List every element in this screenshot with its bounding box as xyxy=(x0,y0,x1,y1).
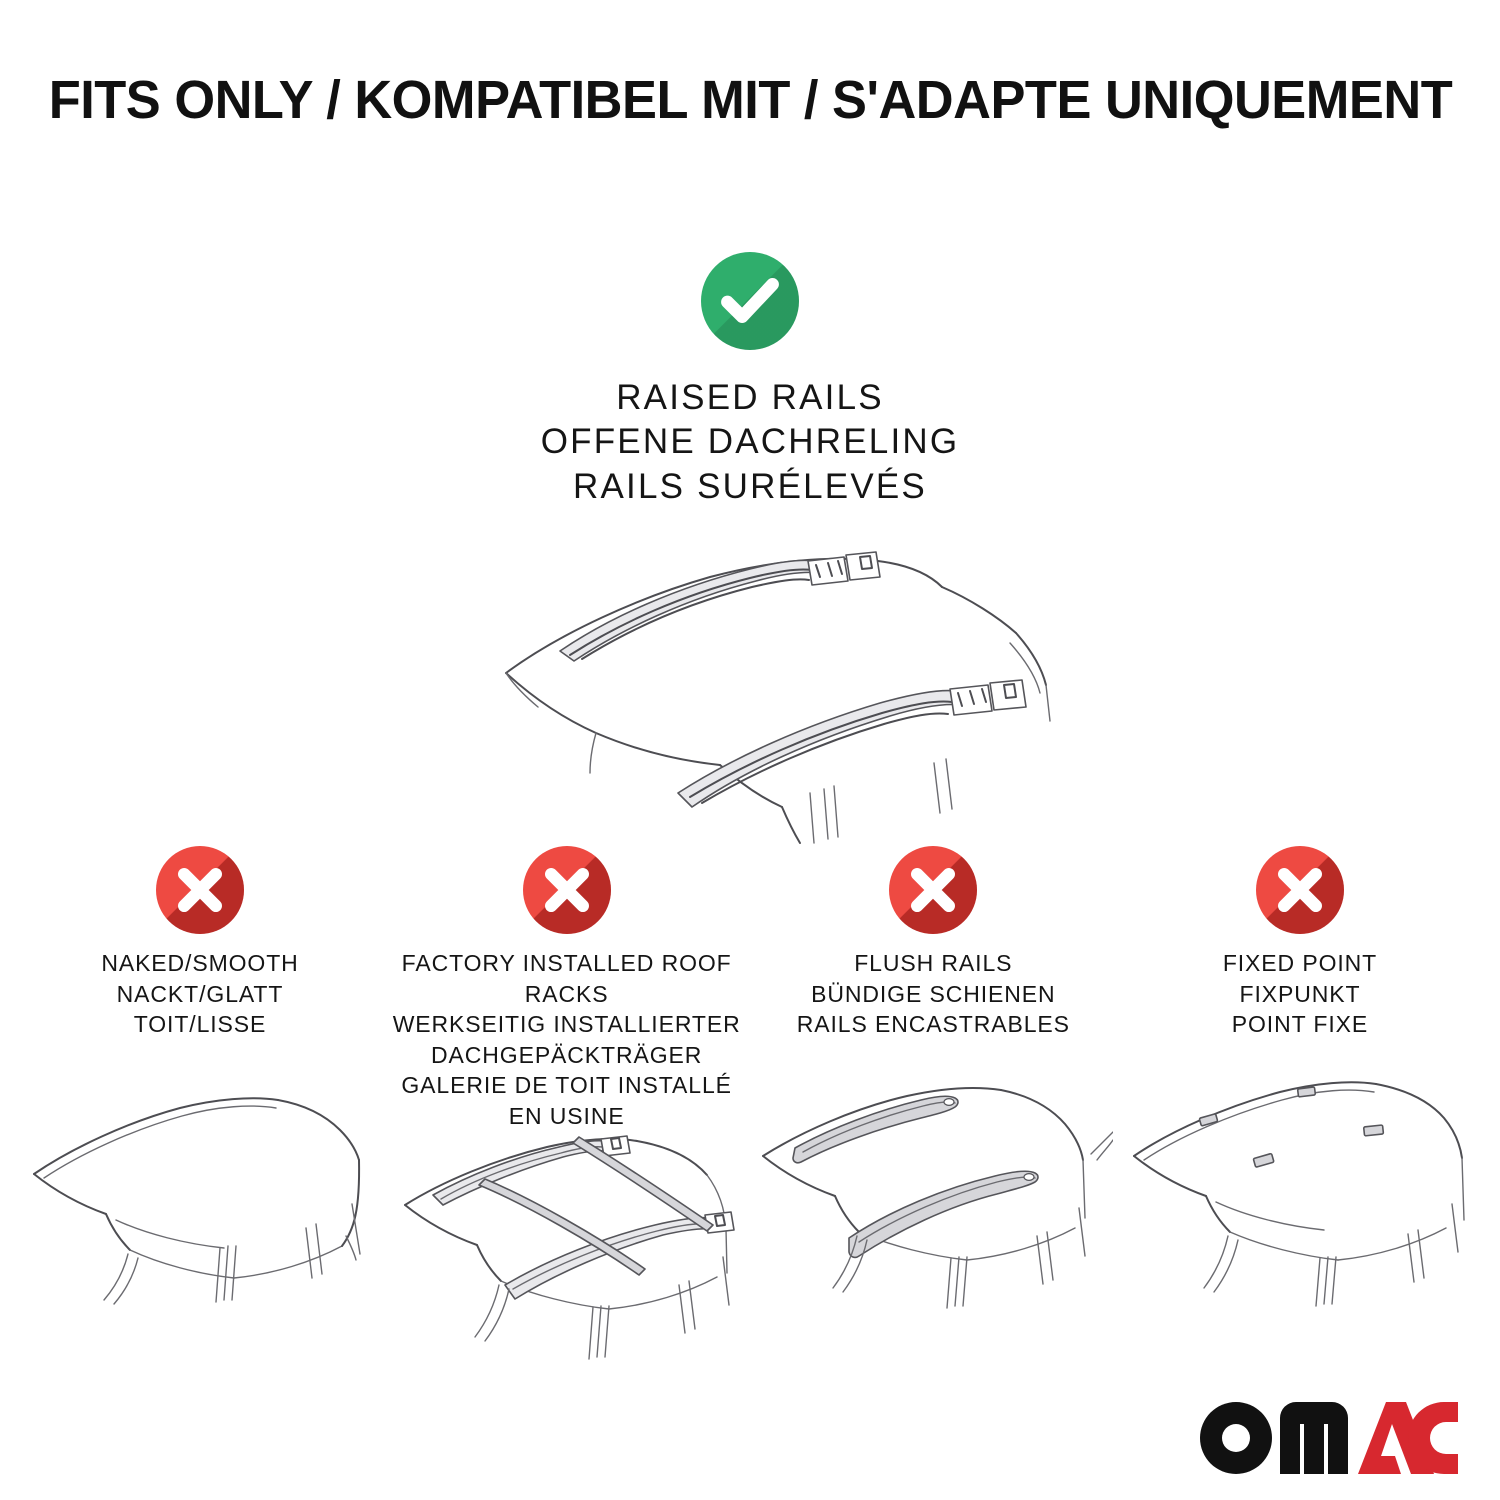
label-en: FIXED POINT xyxy=(1223,948,1377,979)
label-en: NAKED/SMOOTH xyxy=(101,948,298,979)
logo-letter-m xyxy=(1280,1402,1348,1474)
label-de: NACKT/GLATT xyxy=(101,979,298,1010)
page-header: FITS ONLY / KOMPATIBEL MIT / S'ADAPTE UN… xyxy=(0,0,1500,200)
illustration-flush-rails xyxy=(753,1078,1113,1313)
label-de: FIXPUNKT xyxy=(1223,979,1377,1010)
compatible-label-en: RAISED RAILS xyxy=(541,376,960,420)
label-fr: GALERIE DE TOIT INSTALLÉ EN USINE xyxy=(391,1070,743,1131)
omac-logo xyxy=(1198,1400,1458,1476)
logo-letter-o xyxy=(1200,1402,1272,1474)
x-glyph xyxy=(889,846,977,934)
x-circle-icon xyxy=(889,846,977,934)
incompatible-item-fixed-point: FIXED POINT FIXPUNKT POINT FIXE xyxy=(1124,846,1476,1313)
omac-logo-mark xyxy=(1198,1400,1458,1476)
label-fr: POINT FIXE xyxy=(1223,1009,1377,1040)
label-en: FLUSH RAILS xyxy=(797,948,1070,979)
x-circle-icon xyxy=(1256,846,1344,934)
incompatible-item-naked-smooth: NAKED/SMOOTH NACKT/GLATT TOIT/LISSE xyxy=(24,846,376,1313)
labels-flush-rails: FLUSH RAILS BÜNDIGE SCHIENEN RAILS ENCAS… xyxy=(797,948,1070,1076)
illustration-factory-racks xyxy=(387,1133,747,1368)
illustration-naked-smooth xyxy=(20,1078,380,1313)
label-fr: RAILS ENCASTRABLES xyxy=(797,1009,1070,1040)
label-de-2: DACHGEPÄCKTRÄGER xyxy=(391,1040,743,1071)
compatible-section: RAISED RAILS OFFENE DACHRELING RAILS SUR… xyxy=(0,252,1500,845)
illustration-raised-rails xyxy=(410,525,1090,845)
label-en: FACTORY INSTALLED ROOF RACKS xyxy=(391,948,743,1009)
x-circle-icon xyxy=(156,846,244,934)
label-fr: TOIT/LISSE xyxy=(101,1009,298,1040)
check-glyph xyxy=(701,252,799,350)
x-glyph xyxy=(523,846,611,934)
check-circle-icon xyxy=(701,252,799,350)
label-de: BÜNDIGE SCHIENEN xyxy=(797,979,1070,1010)
incompatible-item-factory-racks: FACTORY INSTALLED ROOF RACKS WERKSEITIG … xyxy=(391,846,743,1368)
compatible-label-fr: RAILS SURÉLEVÉS xyxy=(541,465,960,509)
compatible-label-de: OFFENE DACHRELING xyxy=(541,420,960,464)
incompatible-grid: NAKED/SMOOTH NACKT/GLATT TOIT/LISSE xyxy=(0,846,1500,1368)
illustration-fixed-point xyxy=(1120,1078,1480,1313)
compatible-labels: RAISED RAILS OFFENE DACHRELING RAILS SUR… xyxy=(541,376,960,509)
labels-naked-smooth: NAKED/SMOOTH NACKT/GLATT TOIT/LISSE xyxy=(101,948,298,1076)
label-de-1: WERKSEITIG INSTALLIERTER xyxy=(391,1009,743,1040)
incompatible-item-flush-rails: FLUSH RAILS BÜNDIGE SCHIENEN RAILS ENCAS… xyxy=(757,846,1109,1313)
x-circle-icon xyxy=(523,846,611,934)
labels-fixed-point: FIXED POINT FIXPUNKT POINT FIXE xyxy=(1223,948,1377,1076)
x-glyph xyxy=(156,846,244,934)
page-title: FITS ONLY / KOMPATIBEL MIT / S'ADAPTE UN… xyxy=(48,69,1452,131)
x-glyph xyxy=(1256,846,1344,934)
labels-factory-racks: FACTORY INSTALLED ROOF RACKS WERKSEITIG … xyxy=(391,948,743,1131)
